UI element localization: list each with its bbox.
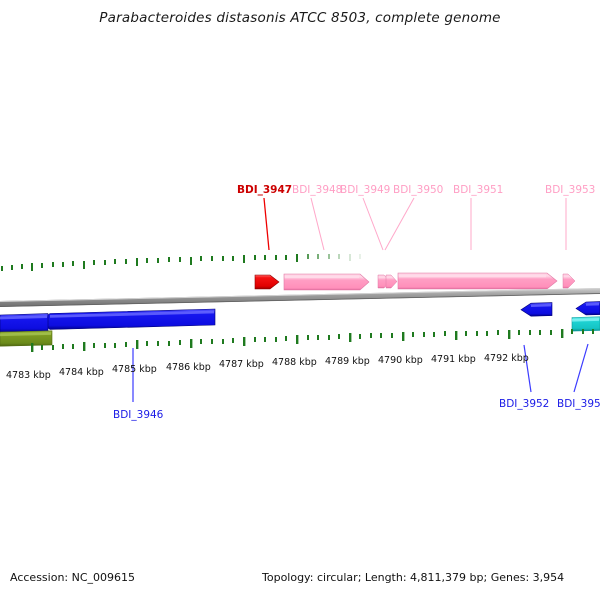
gene-label-bdi-3949[interactable]: BDI_3949 (340, 184, 390, 196)
axis-label-4792: 4792 kbp (484, 353, 529, 364)
top-ruler-ticks (1, 254, 361, 271)
axis-label-4786: 4786 kbp (166, 362, 211, 373)
gene-label-bdi-3954[interactable]: BDI_3954 (557, 398, 600, 410)
gene-arrow-bdi-3948[interactable] (284, 274, 369, 290)
gene-label-bdi-3946[interactable]: BDI_3946 (113, 409, 163, 421)
leader-lines-top (264, 198, 566, 250)
axis-label-4785: 4785 kbp (112, 364, 157, 375)
genome-map-canvas (0, 0, 600, 600)
gene-arrow-bdi-3947[interactable] (255, 275, 279, 289)
gene-arrow-bdi-3946[interactable] (40, 309, 215, 330)
gene-label-bdi-3952[interactable]: BDI_3952 (499, 398, 549, 410)
gene-label-bdi-3947[interactable]: BDI_3947 (237, 184, 292, 196)
gene-label-bdi-3950[interactable]: BDI_3950 (393, 184, 443, 196)
axis-label-4791: 4791 kbp (431, 354, 476, 365)
gene-arrow-bdi-3949[interactable] (378, 275, 397, 288)
gene-arrow-bdi-3946-continuation[interactable] (0, 314, 48, 333)
genome-backbone (0, 288, 600, 307)
axis-label-4783: 4783 kbp (6, 370, 51, 381)
gene-label-bdi-3948[interactable]: BDI_3948 (292, 184, 342, 196)
gene-arrow-bdi-3950-3951[interactable] (398, 273, 557, 289)
gene-arrow-bdi-3953[interactable] (563, 274, 575, 288)
gene-arrow-bdi-3954[interactable] (576, 302, 600, 315)
gene-label-bdi-3951[interactable]: BDI_3951 (453, 184, 503, 196)
axis-label-4788: 4788 kbp (272, 357, 317, 368)
bottom-ruler-ticks (31, 329, 594, 352)
gene-label-bdi-3953[interactable]: BDI_3953 (545, 184, 595, 196)
accession-text: Accession: NC_009615 (10, 571, 135, 584)
gene-arrow-bdi-3952[interactable] (521, 303, 552, 317)
axis-label-4789: 4789 kbp (325, 356, 370, 367)
axis-label-4790: 4790 kbp (378, 355, 423, 366)
genome-viewer: Parabacteroides distasonis ATCC 8503, co… (0, 0, 600, 600)
axis-label-4787: 4787 kbp (219, 359, 264, 370)
genome-stats-text: Topology: circular; Length: 4,811,379 bp… (262, 571, 564, 584)
gene-bar-olive[interactable] (0, 331, 52, 346)
axis-label-4784: 4784 kbp (59, 367, 104, 378)
gene-bar-cyan[interactable] (572, 317, 600, 331)
